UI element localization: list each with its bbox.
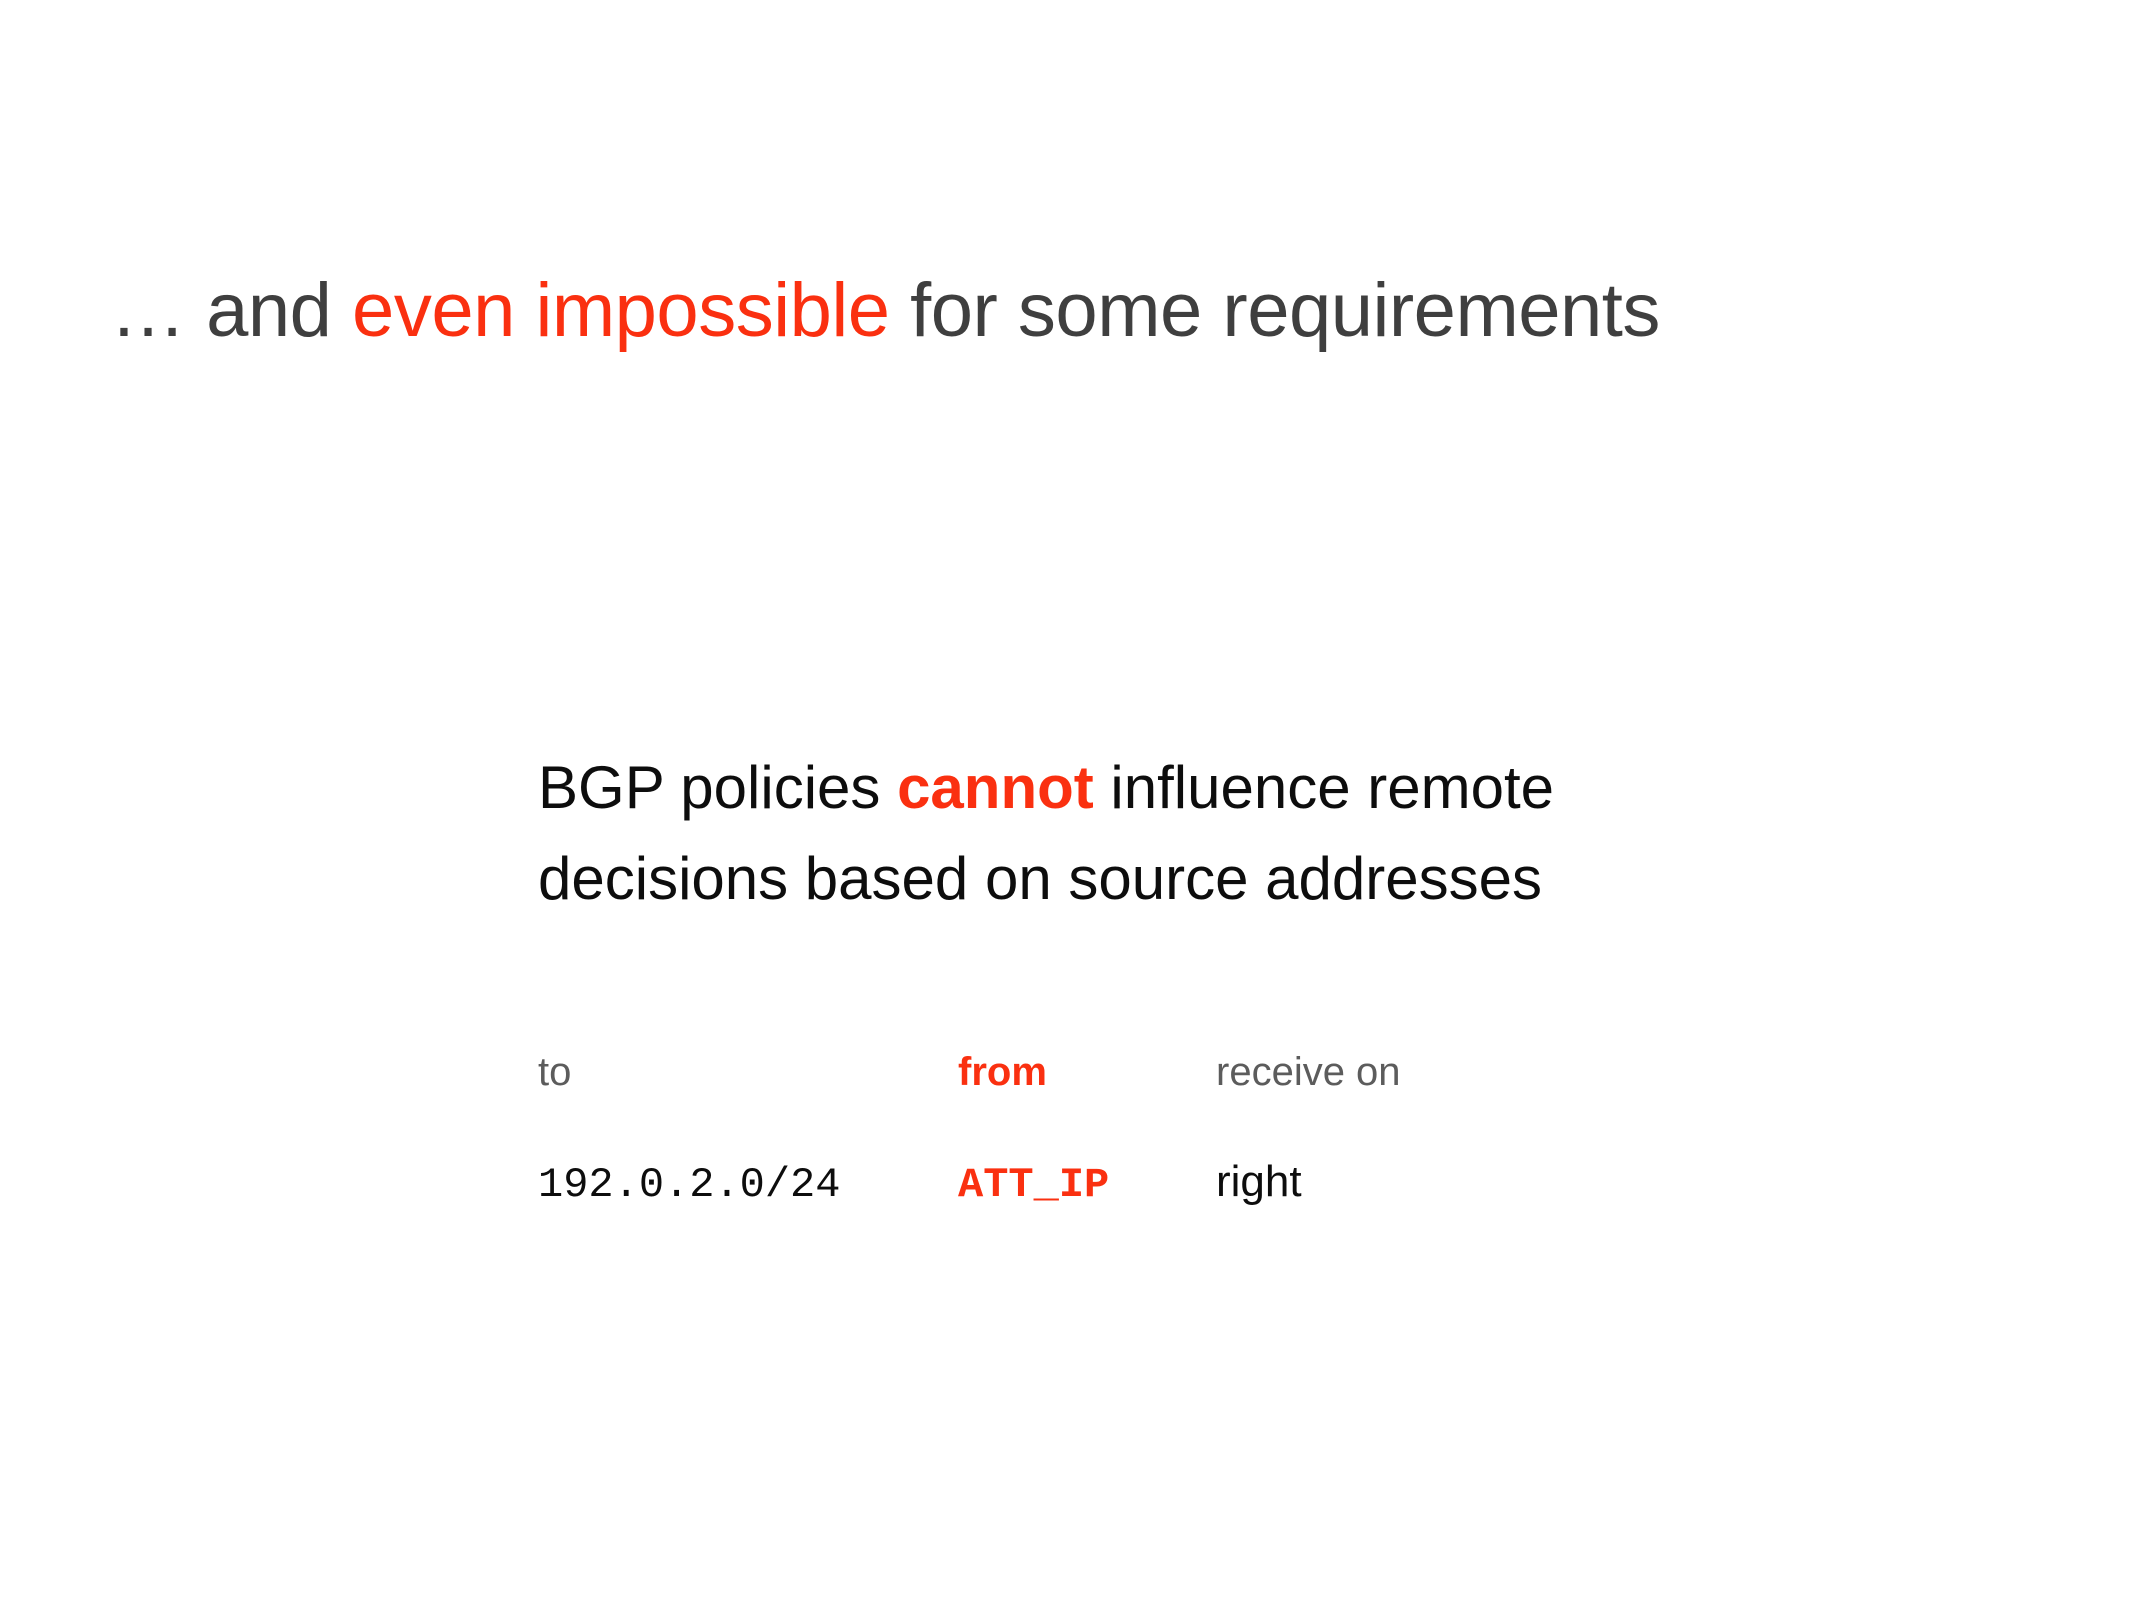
column-header-to: to: [538, 1052, 958, 1160]
title-highlight-text: even impossible: [352, 268, 889, 353]
table-header-row: to from receive on: [538, 1052, 1536, 1160]
cell-prefix: 192.0.2.0/24: [538, 1160, 958, 1206]
title-trail-text: for some requirements: [890, 268, 1660, 353]
statement-line-2: decisions based on source addresses: [538, 847, 1554, 910]
table-row: 192.0.2.0/24 ATT_IP right: [538, 1160, 1536, 1206]
cell-receive-on: right: [1216, 1160, 1536, 1206]
cell-community: ATT_IP: [958, 1160, 1216, 1206]
title-lead-text: … and: [110, 268, 352, 353]
page-title: … and even impossible for some requireme…: [110, 273, 1660, 349]
policy-table-body: to from receive on 192.0.2.0/24 ATT_IP r…: [538, 1052, 1536, 1206]
statement-line1-trail: influence remote: [1094, 754, 1554, 821]
column-header-from: from: [958, 1052, 1216, 1160]
policy-table: to from receive on 192.0.2.0/24 ATT_IP r…: [538, 1052, 1536, 1206]
statement-block: BGP policies cannot influence remote dec…: [538, 756, 1554, 910]
statement-line1-highlight: cannot: [897, 754, 1094, 821]
statement-line1-lead: BGP policies: [538, 754, 897, 821]
slide-canvas: … and even impossible for some requireme…: [0, 0, 2134, 1600]
statement-line-1: BGP policies cannot influence remote: [538, 756, 1554, 819]
column-header-receive-on: receive on: [1216, 1052, 1536, 1160]
